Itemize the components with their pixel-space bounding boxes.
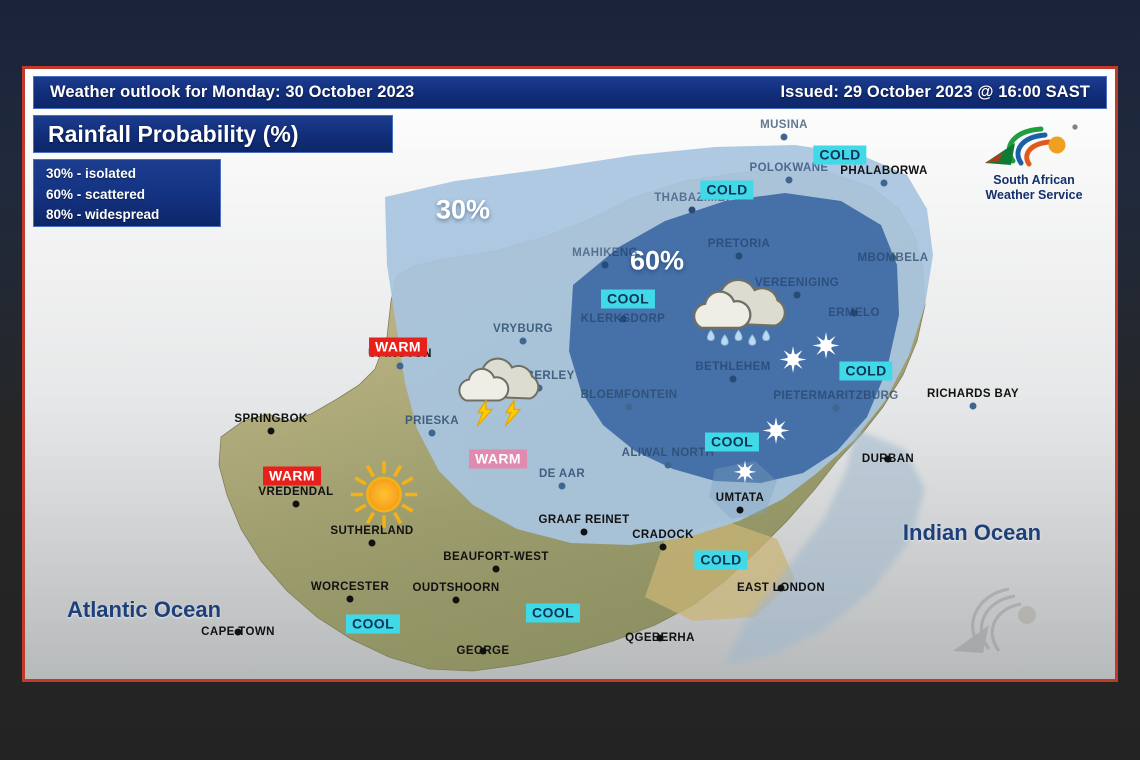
saws-logo-line1: South African	[967, 173, 1101, 187]
sun-icon	[349, 460, 419, 535]
city-dot	[453, 597, 460, 604]
city-dot	[581, 529, 588, 536]
city-dot	[730, 376, 737, 383]
issued-timestamp: Issued: 29 October 2023 @ 16:00 SAST	[781, 83, 1091, 102]
ocean-label-indian-ocean: Indian Ocean	[903, 520, 1041, 546]
city-dot	[520, 338, 527, 345]
city-dot	[626, 404, 633, 411]
city-dot	[781, 134, 788, 141]
city-dot	[851, 310, 858, 317]
city-dot	[890, 255, 897, 262]
city-dot	[736, 253, 743, 260]
city-dot	[397, 363, 404, 370]
condition-tag-cool: COOL	[526, 604, 580, 623]
thunderstorm-icon	[458, 349, 558, 434]
city-dot	[660, 544, 667, 551]
ocean-label-atlantic-ocean: Atlantic Ocean	[67, 597, 221, 623]
hail-burst-icon	[778, 345, 808, 380]
condition-tag-warm: WARM	[263, 467, 321, 486]
city-dot	[347, 596, 354, 603]
city-dot	[480, 648, 487, 655]
legend-item-60: 60% - scattered	[46, 185, 220, 206]
weather-map-panel: 30%60% MUSINAPOLOKWANEPHALABORWATHABAZIM…	[22, 66, 1118, 682]
city-dot	[833, 405, 840, 412]
probability-label-30: 30%	[436, 195, 490, 226]
city-dot	[268, 428, 275, 435]
city-dot	[665, 462, 672, 469]
legend-title-bar: Rainfall Probability (%)	[33, 115, 393, 153]
condition-tag-warm: WARM	[369, 338, 427, 357]
saws-logo-line2: Weather Service	[967, 188, 1101, 202]
city-dot	[970, 403, 977, 410]
city-dot	[881, 180, 888, 187]
city-dot	[778, 585, 785, 592]
condition-tag-cold: COLD	[700, 181, 753, 200]
condition-tag-cold: COLD	[694, 551, 747, 570]
city-dot	[657, 635, 664, 642]
legend-box: 30% - isolated 60% - scattered 80% - wid…	[33, 159, 221, 227]
city-dot	[235, 629, 242, 636]
condition-tag-cold: COLD	[839, 362, 892, 381]
city-dot	[559, 483, 566, 490]
city-dot	[620, 316, 627, 323]
legend-title-text: Rainfall Probability (%)	[48, 121, 298, 148]
city-dot	[737, 507, 744, 514]
city-dot	[885, 456, 892, 463]
saws-logo-icon	[969, 121, 1099, 167]
legend-item-80: 80% - widespread	[46, 205, 220, 226]
hail-burst-icon	[811, 331, 841, 366]
city-dot	[786, 177, 793, 184]
hail-burst-icon	[761, 416, 791, 451]
page-title: Weather outlook for Monday: 30 October 2…	[50, 83, 414, 102]
city-dot	[602, 262, 609, 269]
city-dot	[689, 207, 696, 214]
condition-tag-cool: COOL	[346, 615, 400, 634]
city-dot	[369, 540, 376, 547]
condition-tag-cold: COLD	[813, 146, 866, 165]
condition-tag-cool: COOL	[705, 433, 759, 452]
city-dot	[293, 501, 300, 508]
hail-burst-icon	[732, 459, 758, 489]
city-dot	[493, 566, 500, 573]
city-dot	[429, 430, 436, 437]
saws-logo: South African Weather Service	[967, 121, 1101, 207]
probability-label-60: 60%	[630, 246, 684, 277]
legend-item-30: 30% - isolated	[46, 164, 220, 185]
condition-tag-warm: WARM	[469, 450, 527, 469]
title-bar: Weather outlook for Monday: 30 October 2…	[33, 76, 1107, 109]
condition-tag-cool: COOL	[601, 290, 655, 309]
